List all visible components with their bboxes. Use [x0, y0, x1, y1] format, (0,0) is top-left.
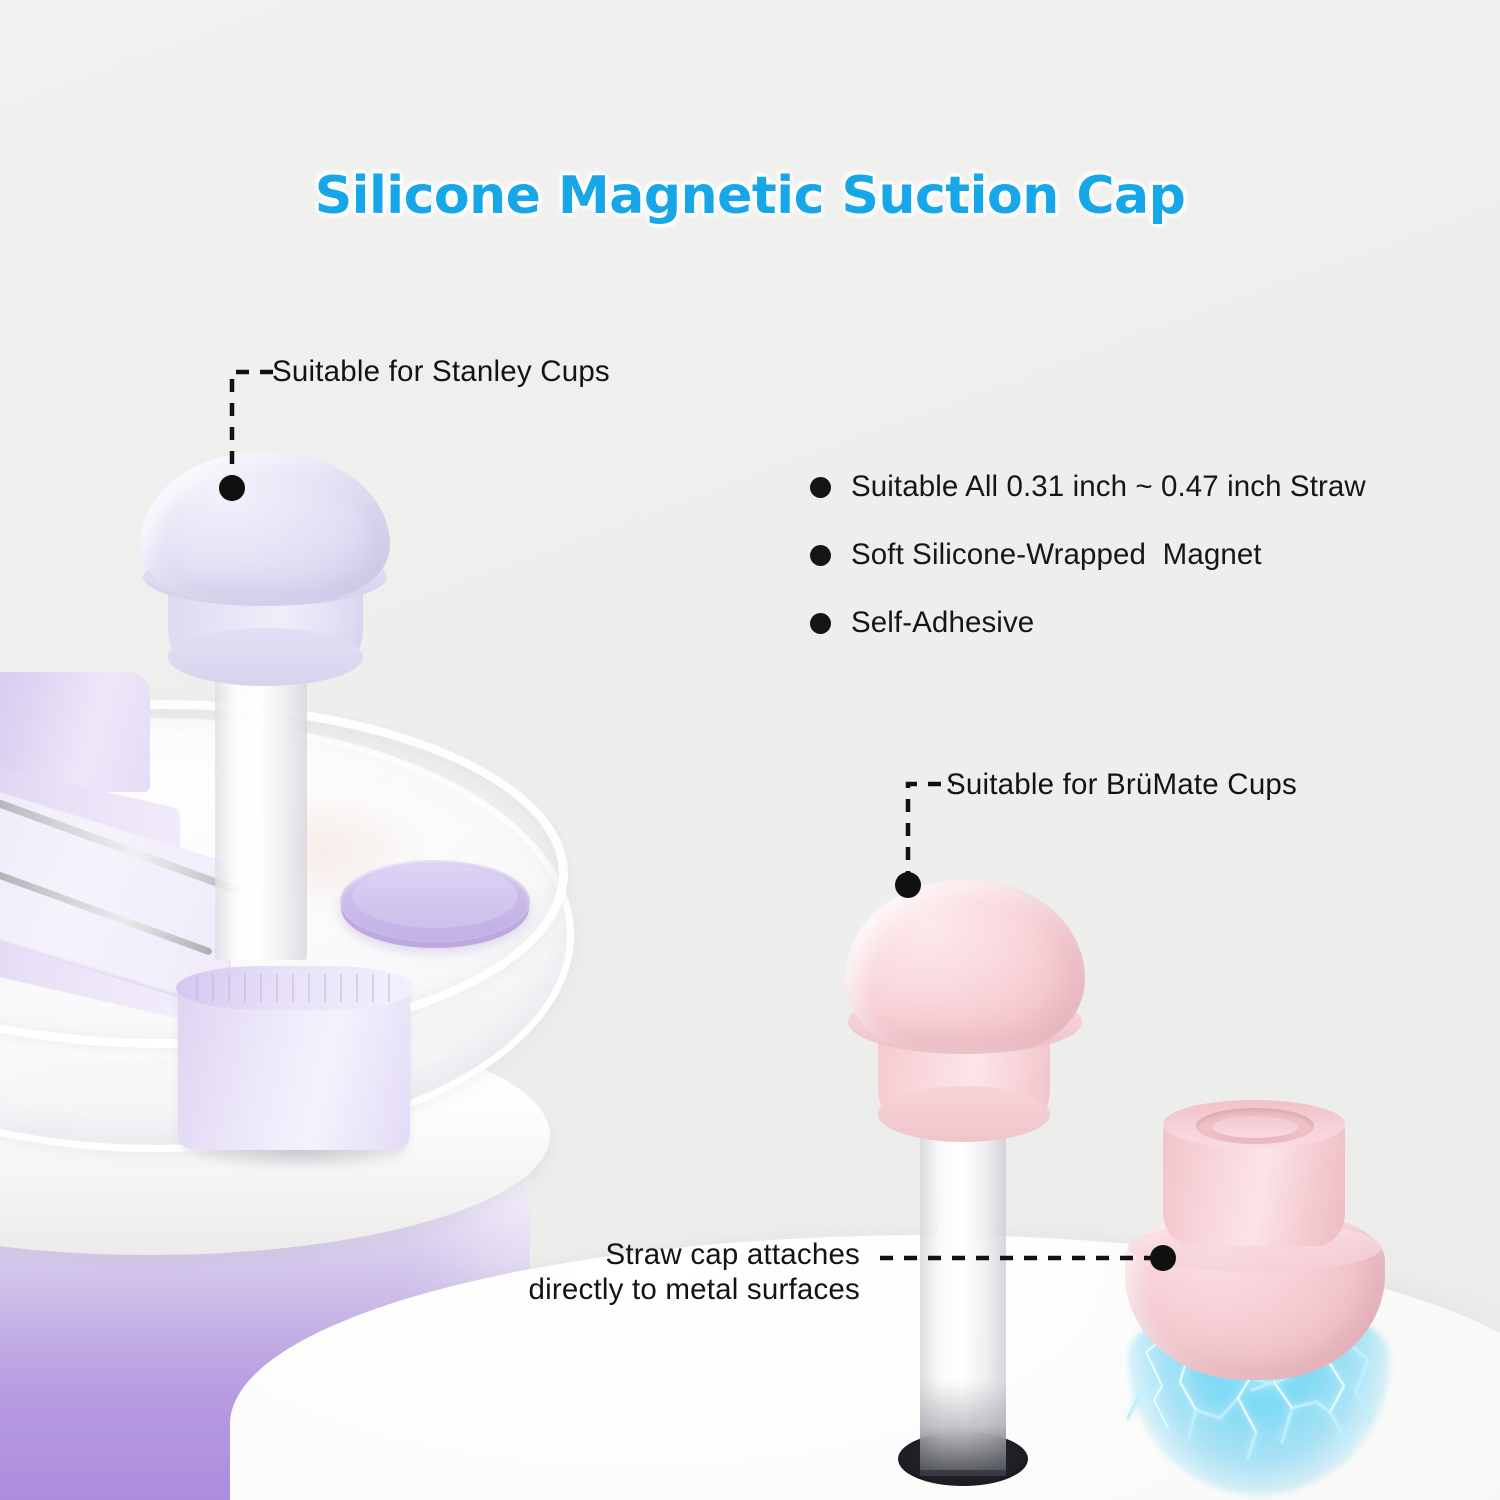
lavender-cap-stem-base: [168, 628, 363, 686]
magnetic-cap-bore-inner: [1212, 1116, 1298, 1138]
pink-cap-dome: [845, 880, 1085, 1050]
lavender-cap-dome: [140, 452, 390, 602]
page-title: Silicone Magnetic Suction Cap: [0, 166, 1500, 226]
magnetic-callout-dot: [1150, 1245, 1176, 1271]
feature-label: Self-Adhesive: [851, 606, 1034, 640]
brumate-callout-dot: [895, 872, 921, 898]
bullet-circle-icon: [810, 545, 831, 566]
pink-cap-straw-shadow: [920, 1380, 1006, 1476]
product-infographic: Silicone Magnetic Suction Cap Suitable A…: [0, 0, 1500, 1500]
magnetic-callout-label: Straw cap attaches directly to metal sur…: [460, 1238, 860, 1308]
stanley-front-tab-ribs: [196, 974, 394, 1002]
bullet-circle-icon: [810, 613, 831, 634]
brumate-callout-label: Suitable for BrüMate Cups: [946, 768, 1297, 802]
stanley-callout-dot: [219, 475, 245, 501]
stanley-callout-label: Suitable for Stanley Cups: [272, 355, 610, 389]
feature-label: Soft Silicone-Wrapped Magnet: [851, 538, 1262, 572]
bullet-circle-icon: [810, 477, 831, 498]
list-item: Soft Silicone-Wrapped Magnet: [810, 534, 1460, 576]
feature-label: Suitable All 0.31 inch ~ 0.47 inch Straw: [851, 470, 1366, 504]
pink-cap-stem-base: [878, 1086, 1050, 1142]
stanley-lid-button-top: [352, 864, 518, 928]
list-item: Self-Adhesive: [810, 602, 1460, 644]
feature-list: Suitable All 0.31 inch ~ 0.47 inch Straw…: [810, 466, 1460, 670]
list-item: Suitable All 0.31 inch ~ 0.47 inch Straw: [810, 466, 1460, 508]
